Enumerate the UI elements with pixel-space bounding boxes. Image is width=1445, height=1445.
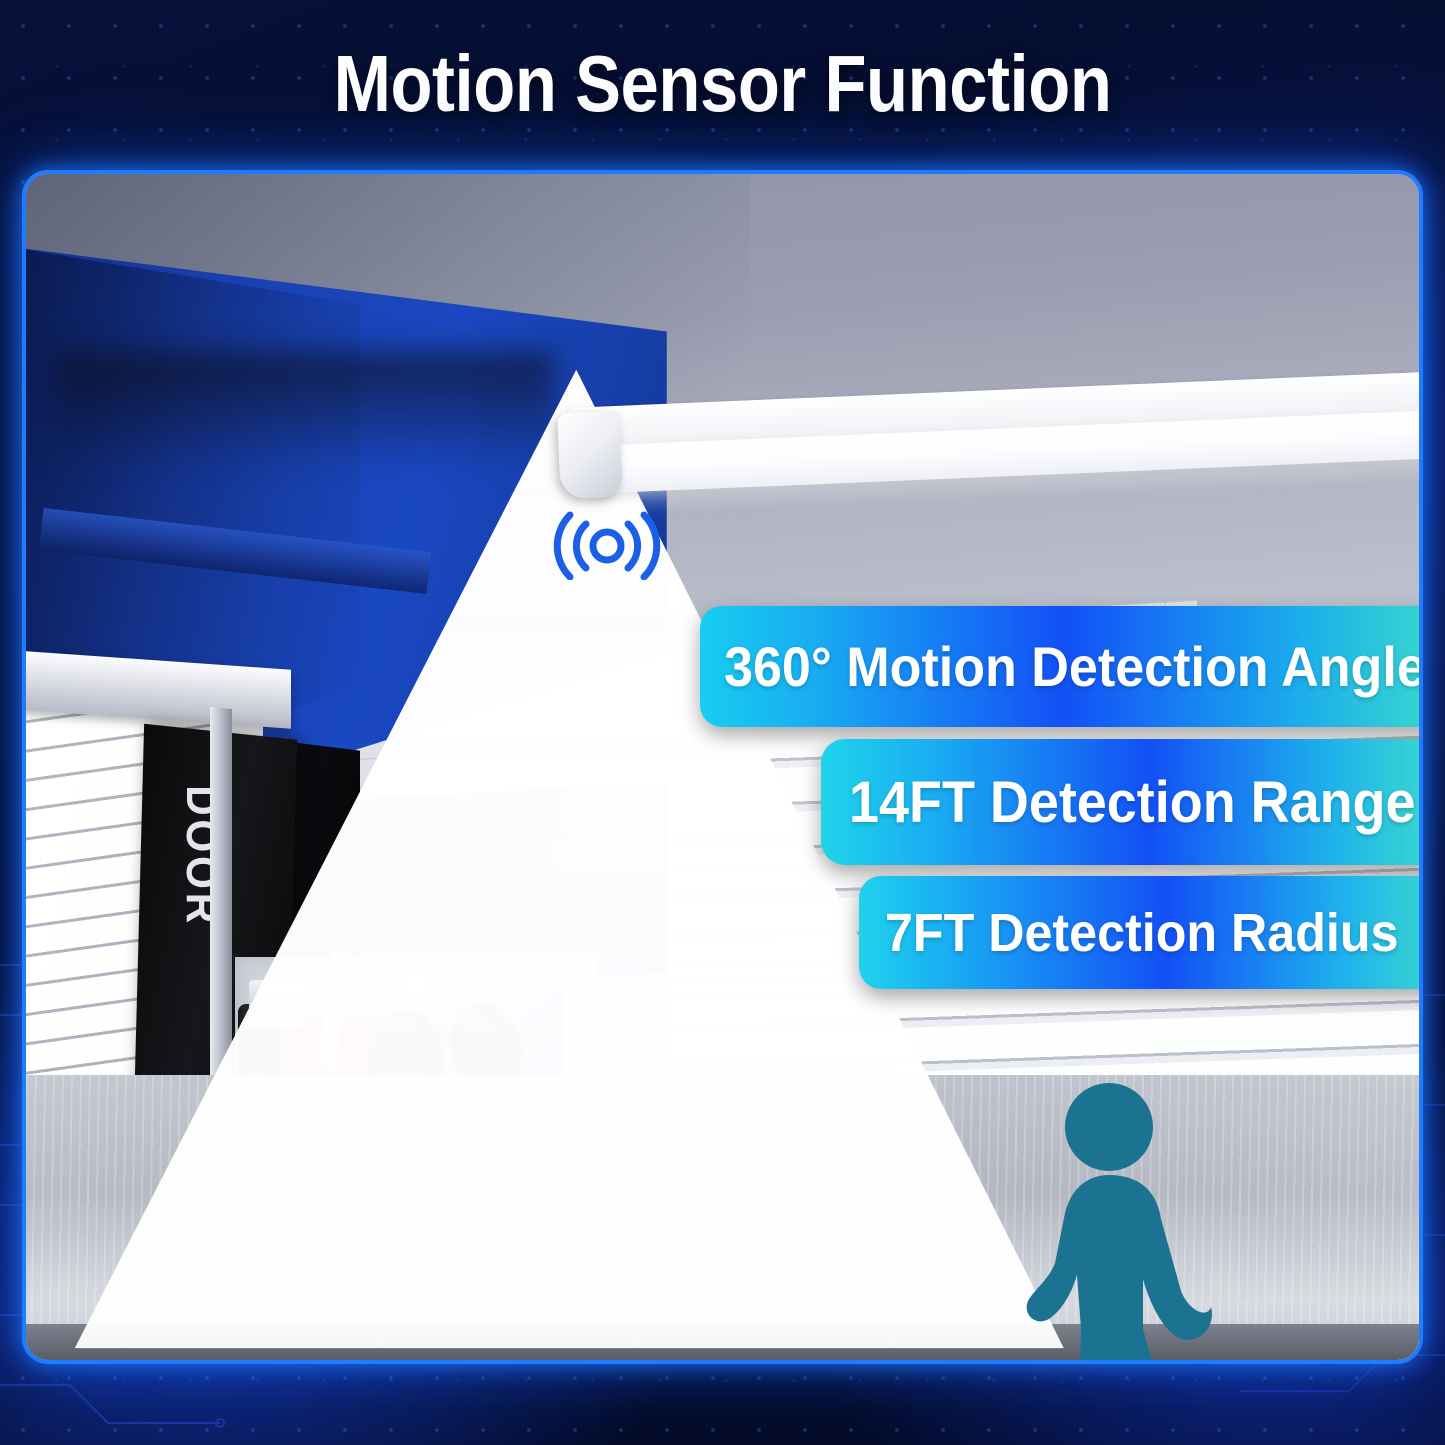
- led-shop-light: [531, 402, 1419, 522]
- fixture-end-cap: [557, 411, 623, 500]
- product-scene-frame: DOOR: [22, 170, 1423, 1364]
- walking-person-pictogram: [1021, 1079, 1231, 1360]
- badge-detection-range: 14FT Detection Range: [821, 739, 1419, 865]
- ceiling-shadow-band: [54, 352, 555, 471]
- badge-detection-angle-label: 360° Motion Detection Angle: [724, 634, 1419, 699]
- infographic-root: Motion Sensor Function DOOR: [0, 0, 1445, 1445]
- garage-scene: DOOR: [26, 174, 1419, 1360]
- badge-detection-angle: 360° Motion Detection Angle: [700, 606, 1419, 727]
- motion-sensor-icon: [542, 508, 672, 580]
- page-title: Motion Sensor Function: [101, 44, 1344, 124]
- badge-detection-range-label: 14FT Detection Range: [849, 769, 1415, 836]
- badge-detection-radius-label: 7FT Detection Radius: [885, 902, 1398, 964]
- badge-detection-radius: 7FT Detection Radius: [859, 876, 1419, 989]
